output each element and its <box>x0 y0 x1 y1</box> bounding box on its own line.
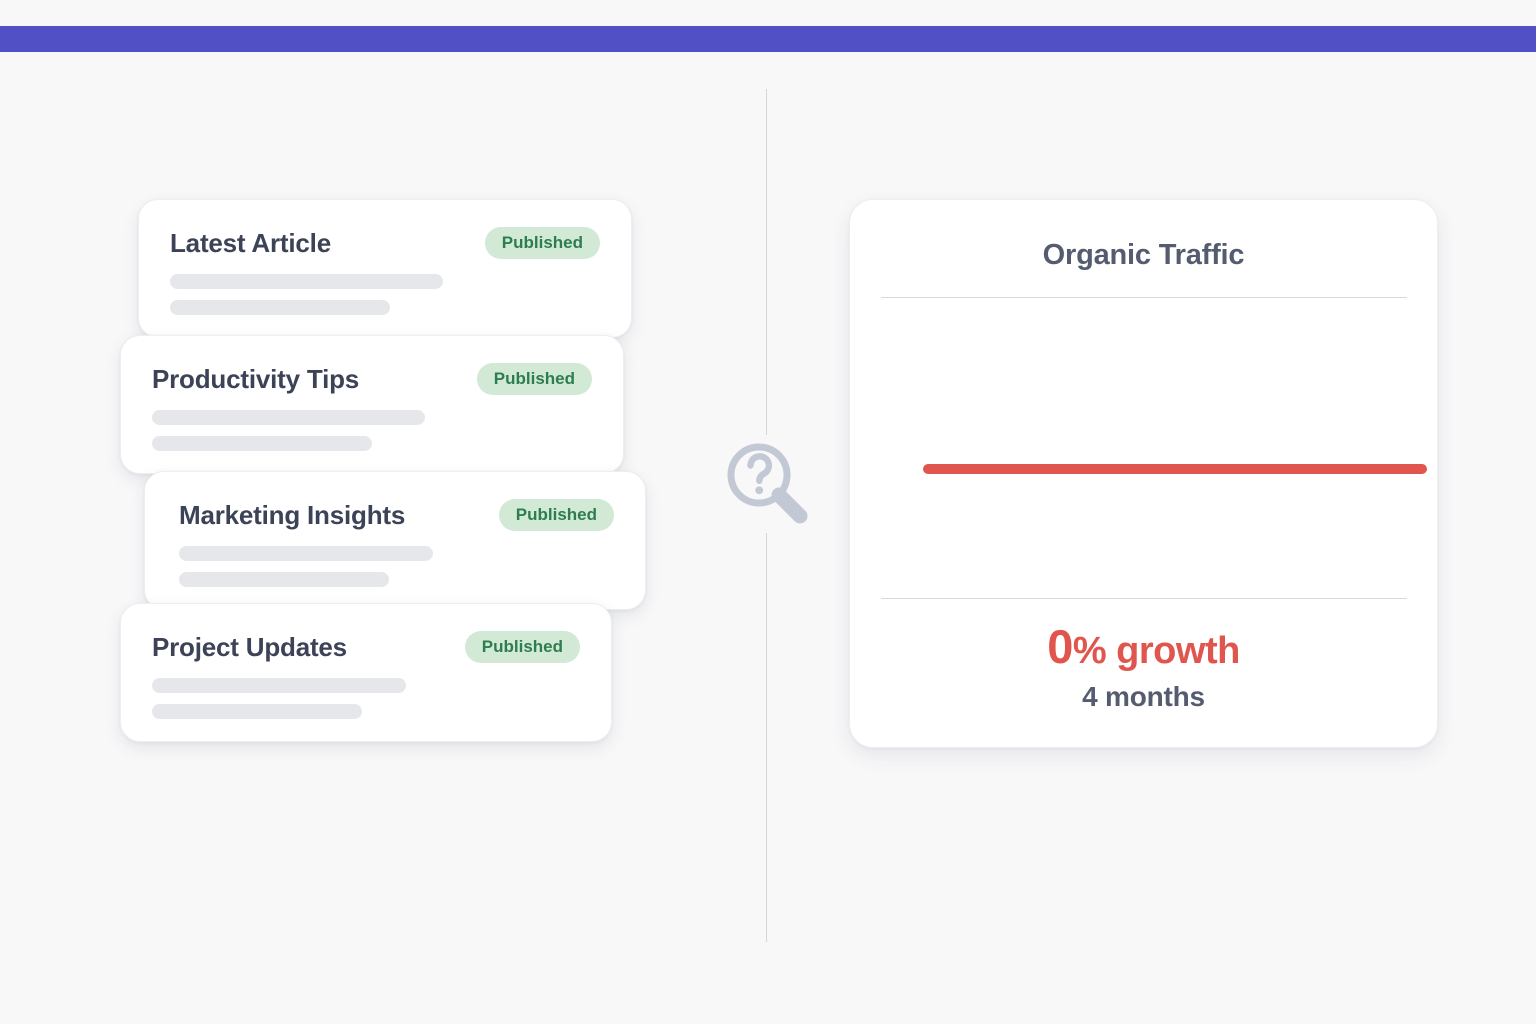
screen-canvas: Latest Article Published Productivity Ti… <box>0 0 1536 1024</box>
card-title: Project Updates <box>152 632 347 663</box>
chart-series-line-organic-traffic <box>923 464 1427 474</box>
list-item[interactable]: Latest Article Published <box>138 199 632 338</box>
skeleton-line <box>152 704 362 719</box>
skeleton-line <box>179 546 433 561</box>
growth-value: 0 <box>1047 620 1073 673</box>
chart-plot-area <box>881 298 1407 598</box>
content-card-stack: Latest Article Published Productivity Ti… <box>0 0 760 1024</box>
list-item[interactable]: Productivity Tips Published <box>120 335 624 474</box>
growth-unit-label: % growth <box>1073 630 1240 672</box>
vertical-divider-lower <box>766 533 767 942</box>
metric-card-title: Organic Traffic <box>850 239 1437 272</box>
skeleton-line <box>170 300 390 315</box>
card-title: Productivity Tips <box>152 364 359 395</box>
vertical-divider-upper <box>766 89 767 435</box>
card-title: Marketing Insights <box>179 500 405 531</box>
skeleton-line <box>152 436 372 451</box>
skeleton-line <box>152 678 406 693</box>
skeleton-line <box>179 572 389 587</box>
card-header: Marketing Insights Published <box>179 499 614 531</box>
card-header: Productivity Tips Published <box>152 363 592 395</box>
status-badge: Published <box>477 363 592 395</box>
status-badge: Published <box>485 227 600 259</box>
list-item[interactable]: Project Updates Published <box>120 603 612 742</box>
organic-traffic-metric-card[interactable]: Organic Traffic 0% growth 4 months <box>849 199 1438 748</box>
chart-gridline-bottom <box>881 598 1407 599</box>
growth-summary: 0% growth <box>850 619 1437 674</box>
card-title: Latest Article <box>170 228 331 259</box>
status-badge: Published <box>499 499 614 531</box>
card-header: Latest Article Published <box>170 227 600 259</box>
period-label: 4 months <box>850 681 1437 713</box>
status-badge: Published <box>465 631 580 663</box>
search-question-icon <box>716 434 816 534</box>
skeleton-line <box>152 410 425 425</box>
skeleton-line <box>170 274 443 289</box>
card-header: Project Updates Published <box>152 631 580 663</box>
list-item[interactable]: Marketing Insights Published <box>144 471 646 610</box>
